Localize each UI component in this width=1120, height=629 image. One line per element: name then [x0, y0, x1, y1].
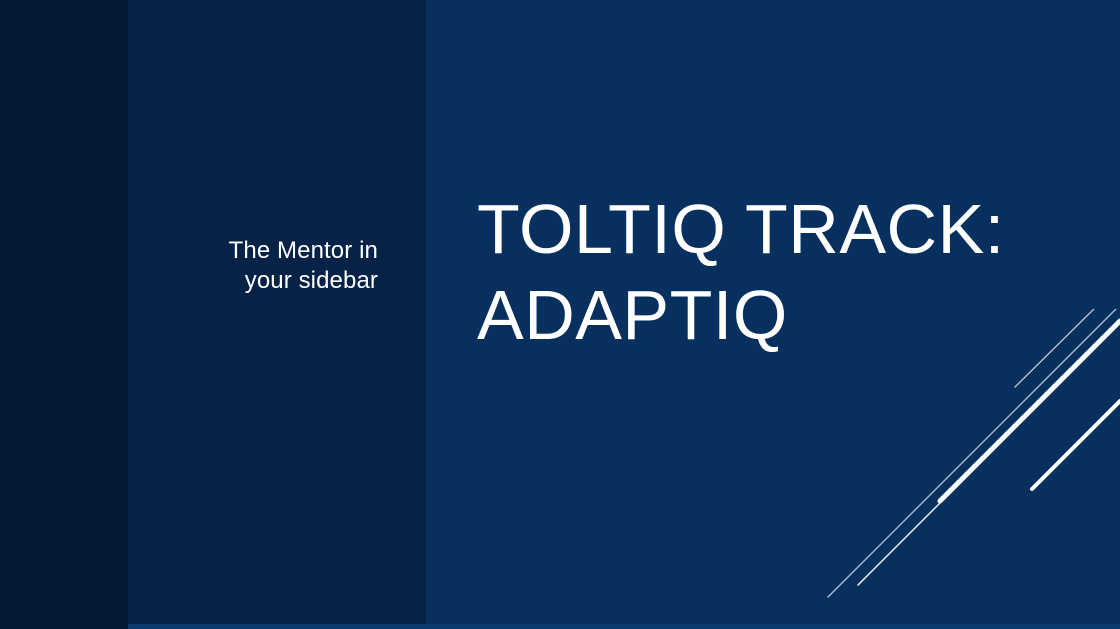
panel-middle [128, 0, 426, 629]
panel-far-left [0, 0, 128, 629]
slide-subtitle: The Mentor in your sidebar [128, 236, 378, 296]
slide-title: TOLTIQ TRACK: ADAPTIQ [477, 186, 1077, 358]
bottom-edge-strip [128, 624, 1120, 629]
title-slide: The Mentor in your sidebar TOLTIQ TRACK:… [0, 0, 1120, 629]
